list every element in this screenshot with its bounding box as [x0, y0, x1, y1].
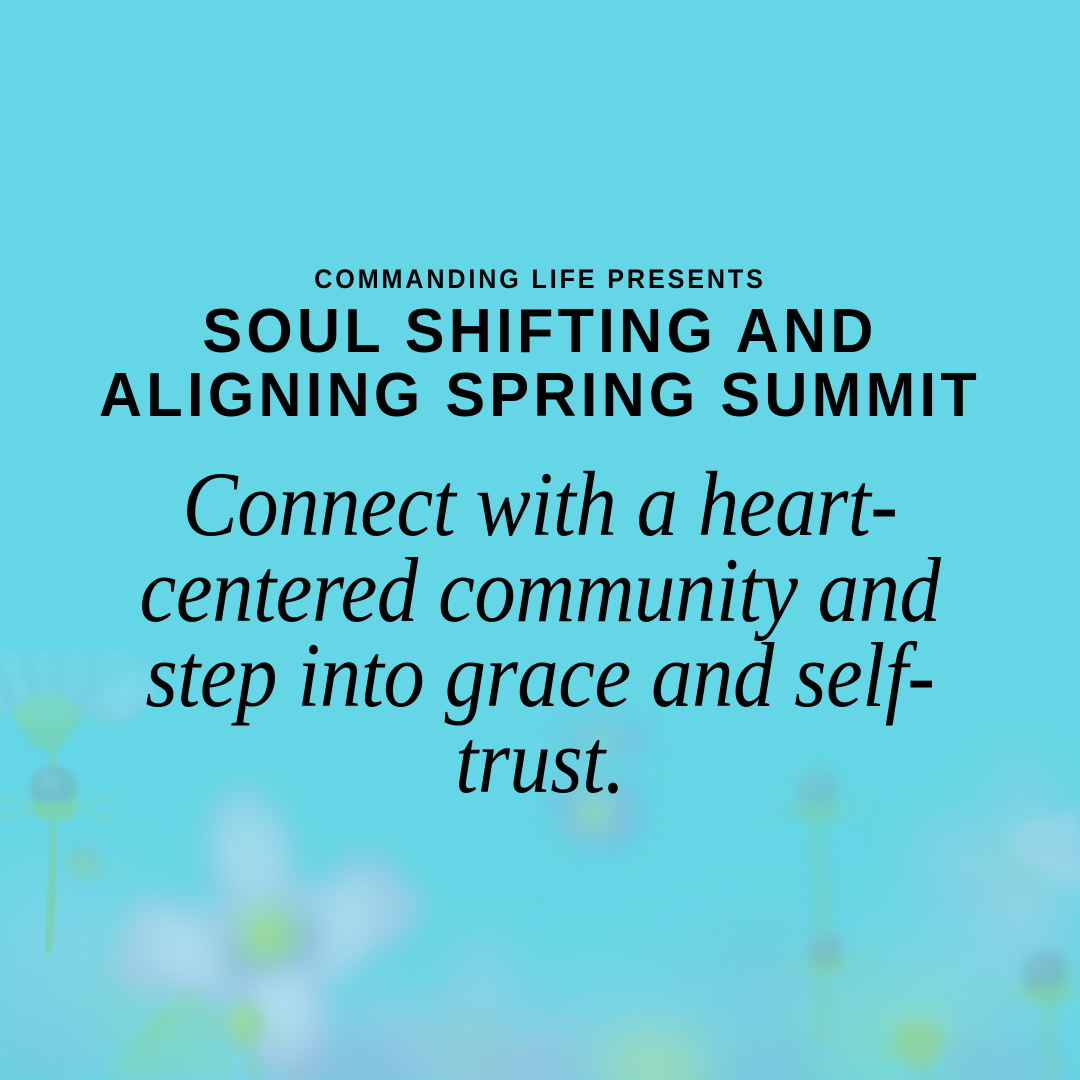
headline-line-1: SOUL SHIFTING AND — [22, 300, 1059, 364]
poster-content: COMMANDING LIFE PRESENTS SOUL SHIFTING A… — [0, 0, 1080, 1080]
subheadline-text: Connect with a heart-centered community … — [135, 462, 945, 804]
poster-canvas: COMMANDING LIFE PRESENTS SOUL SHIFTING A… — [0, 0, 1080, 1080]
headline-line-2: ALIGNING SPRING SUMMIT — [22, 364, 1059, 428]
page-title: SOUL SHIFTING AND ALIGNING SPRING SUMMIT — [22, 300, 1059, 428]
eyebrow-text: COMMANDING LIFE PRESENTS — [38, 266, 1042, 293]
